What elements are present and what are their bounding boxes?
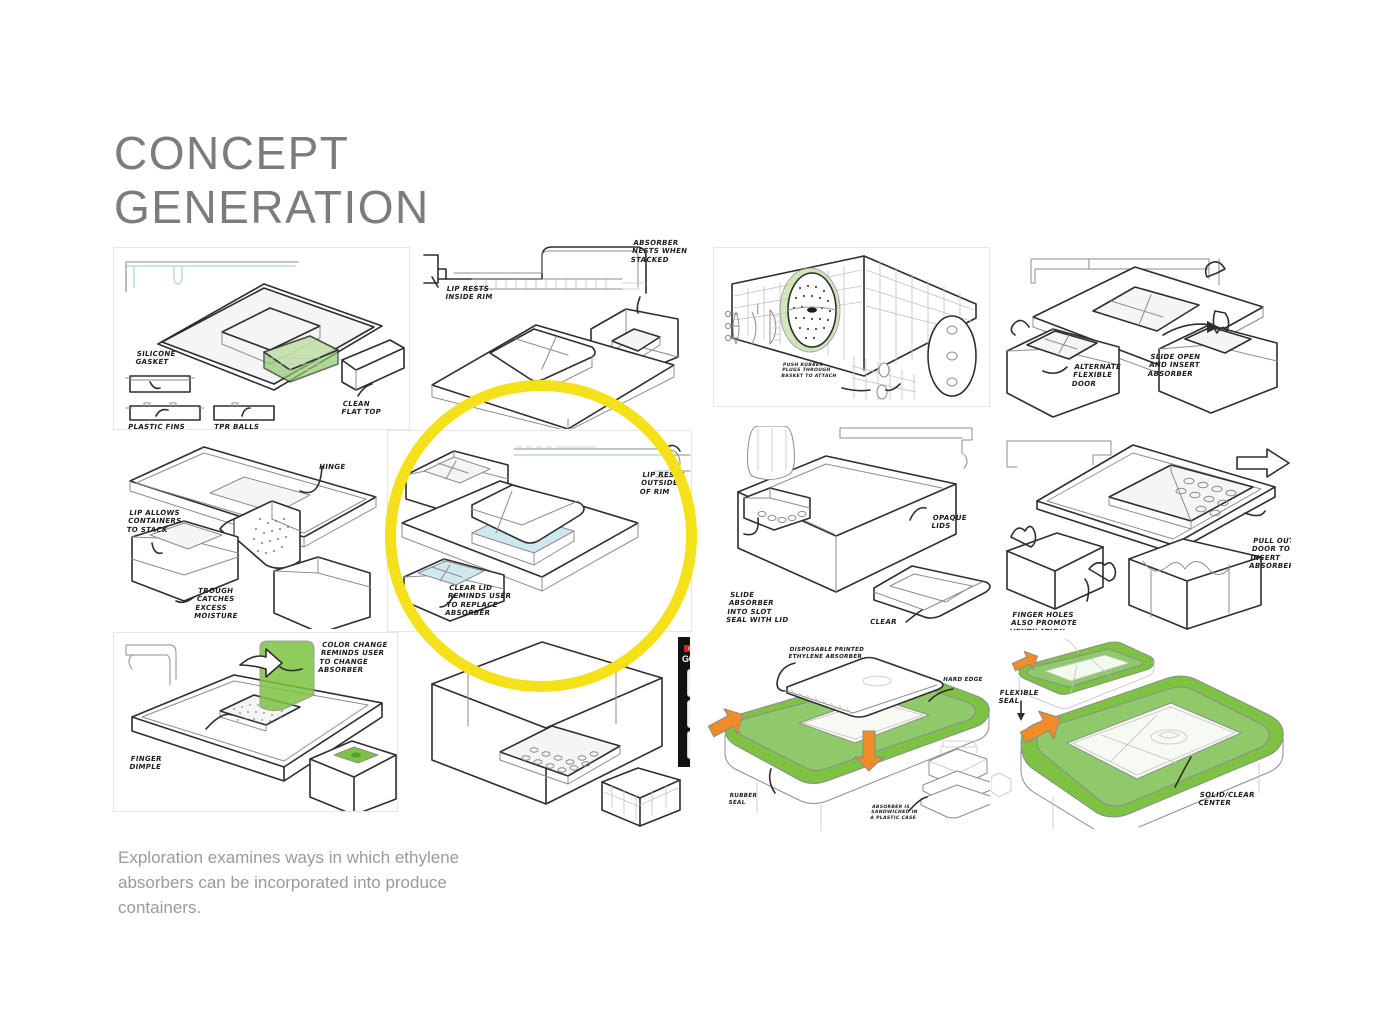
note-lip-rests-outside-rim: LIP RESTS OUTSIDE OF RIM bbox=[639, 471, 685, 496]
note-finger-dimple: FINGER DIMPLE bbox=[129, 755, 163, 772]
sketch-panel-pull-out-drawer: PULL OUT DOOR TO INSERT ABSORBER FINGER … bbox=[992, 428, 1292, 633]
note-silicone-gasket: SILICONE GASKET bbox=[135, 350, 177, 367]
sketch-panel-silicone-gasket: SILICONE GASKET PLASTIC FINS TPR BALLS C… bbox=[113, 247, 410, 430]
note-tpr-balls: TPR BALLS bbox=[213, 423, 259, 430]
note-color-change-reminds-user: COLOR CHANGE REMINDS USER TO CHANGE ABSO… bbox=[317, 641, 388, 675]
sketch-flexible-door bbox=[993, 241, 1288, 430]
note-clean-flat-top: CLEAN FLAT TOP bbox=[341, 400, 383, 417]
note-push-rubber-plugs: PUSH RUBBER PLUGS THROUGH BASKET TO ATTA… bbox=[781, 363, 839, 379]
note-lip-allows-stack: LIP ALLOWS CONTAINERS TO STACK bbox=[126, 509, 183, 534]
note-plastic-fins: PLASTIC FINS bbox=[127, 423, 185, 430]
page-title-line-2: GENERATION bbox=[114, 180, 430, 234]
note-clear-lid-reminds-user: CLEAR LID REMINDS USER TO REPLACE ABSORB… bbox=[444, 584, 513, 618]
sketch-panel-green-rubber-seal-lid: DISPOSABLE PRINTED ETHYLENE ABSORBER HAR… bbox=[690, 632, 1000, 832]
note-pull-out-door: PULL OUT DOOR TO INSERT ABSORBER bbox=[1248, 537, 1292, 571]
note-flexible-seal: FLEXIBLE SEAL bbox=[998, 689, 1040, 706]
sketch-panel-nesting-lip: LIP RESTS INSIDE RIM ABSORBER NESTS WHEN… bbox=[415, 232, 700, 430]
sketch-panel-flexible-door: ALTERNATE FLEXIBLE DOOR SLIDE OPEN AND I… bbox=[992, 240, 1288, 430]
note-absorber-sandwiched: ABSORBER IS SANDWICHED IN A PLASTIC CASE bbox=[870, 805, 919, 821]
sketch-panel-clear-lid: LIP RESTS OUTSIDE OF RIM CLEAR LID REMIN… bbox=[387, 430, 692, 632]
sketch-panel-slot-seal: SLIDE ABSORBER INTO SLOT SEAL WITH LID O… bbox=[713, 425, 998, 630]
note-hinge: HINGE bbox=[318, 463, 346, 471]
note-opaque-lids: OPAQUE LIDS bbox=[931, 514, 968, 531]
sketch-panel-basket-disc: PUSH RUBBER PLUGS THROUGH BASKET TO ATTA… bbox=[713, 247, 990, 407]
note-clear: CLEAR bbox=[869, 618, 897, 626]
sketch-deep-bin bbox=[416, 636, 685, 830]
note-hard-edge: HARD EDGE bbox=[942, 677, 983, 684]
note-rubber-seal: RUBBER SEAL bbox=[728, 793, 757, 806]
note-slide-open-insert-absorber: SLIDE OPEN AND INSERT ABSORBER bbox=[1147, 353, 1202, 378]
sketch-basket-disc bbox=[714, 248, 990, 407]
note-slide-absorber-into-slot: SLIDE ABSORBER INTO SLOT SEAL WITH LID bbox=[725, 591, 793, 625]
portfolio-page: CONCEPT GENERATION bbox=[0, 0, 1400, 1034]
note-absorber-nests-stacked: ABSORBER NESTS WHEN STACKED bbox=[630, 239, 689, 264]
sketch-hinged-trough bbox=[114, 441, 403, 630]
sketch-pull-out-drawer bbox=[993, 429, 1292, 633]
note-lip-rests-inside-rim: LIP RESTS INSIDE RIM bbox=[445, 285, 495, 302]
sketch-panel-deep-bin bbox=[415, 635, 685, 830]
note-solid-clear-center: SOLID/CLEAR CENTER bbox=[1198, 791, 1256, 808]
sketch-clear-lid bbox=[388, 431, 692, 632]
page-caption: Exploration examines ways in which ethyl… bbox=[118, 845, 498, 920]
note-disposable-printed-absorber: DISPOSABLE PRINTED ETHYLENE ABSORBER bbox=[788, 647, 865, 660]
sketch-panel-hinged-trough: HINGE LIP ALLOWS CONTAINERS TO STACK TRO… bbox=[113, 440, 403, 630]
note-trough-catches-moisture: TROUGH CATCHES EXCESS MOISTURE bbox=[193, 587, 242, 621]
sketch-panel-color-change: COLOR CHANGE REMINDS USER TO CHANGE ABSO… bbox=[113, 632, 398, 812]
page-title-line-1: CONCEPT bbox=[114, 126, 430, 180]
sketch-panel-flexible-seal-lid: FINGER HOLES ALSO PROMOTE VENTILATION FL… bbox=[990, 630, 1290, 830]
note-alternate-flexible-door: ALTERNATE FLEXIBLE DOOR bbox=[1071, 363, 1122, 388]
page-title: CONCEPT GENERATION bbox=[114, 126, 430, 234]
